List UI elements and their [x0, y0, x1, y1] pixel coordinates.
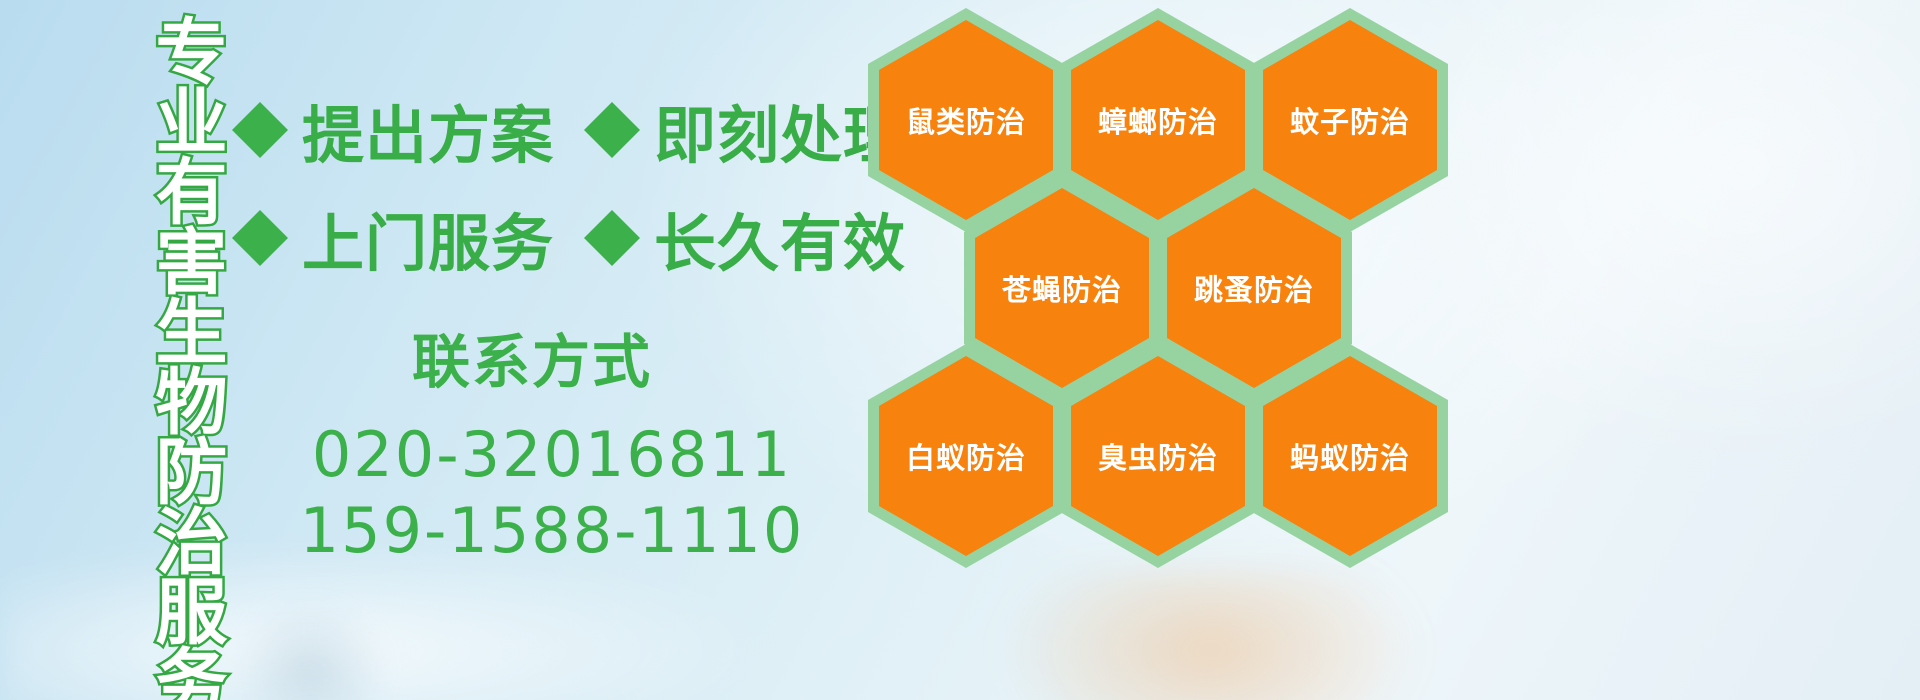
diamond-icon	[584, 74, 640, 130]
slogan-item: 长久有效	[584, 193, 906, 283]
hex-label: 苍蝇防治	[1002, 267, 1122, 309]
slogan-item: 上门服务	[232, 193, 554, 283]
slogan-row: 上门服务 长久有效	[232, 184, 872, 292]
slogan-row: 提出方案 即刻处理	[232, 76, 872, 184]
diamond-icon	[232, 182, 288, 238]
hex-label: 臭虫防治	[1098, 435, 1218, 477]
slogan-label: 提出方案	[302, 85, 554, 175]
diamond-icon	[232, 74, 288, 130]
hex-label: 蟑螂防治	[1098, 99, 1218, 141]
phone-number-landline[interactable]: 020-32016811	[232, 417, 872, 493]
slogan-item: 提出方案	[232, 85, 554, 175]
hex-label: 白蚁防治	[906, 435, 1026, 477]
contact-block: 联系方式 020-32016811 159-1588-1110	[232, 315, 872, 568]
slogan-item: 即刻处理	[584, 85, 906, 175]
slogan-list: 提出方案 即刻处理 上门服务 长久有效	[232, 76, 872, 292]
hex-label: 鼠类防治	[906, 99, 1026, 141]
hex-label: 蚂蚁防治	[1290, 435, 1410, 477]
hex-cell-bedbug[interactable]: 臭虫防治	[1060, 344, 1256, 568]
hex-label: 蚊子防治	[1290, 99, 1410, 141]
background-glow-orange	[1000, 570, 1420, 700]
phone-number-mobile[interactable]: 159-1588-1110	[232, 493, 872, 569]
promo-banner: 专业有害生物防治服务 提出方案 即刻处理 上门服务 长久有效	[0, 0, 1920, 700]
hex-cell-termite[interactable]: 白蚁防治	[868, 344, 1064, 568]
hex-label: 跳蚤防治	[1194, 267, 1314, 309]
service-honeycomb: 鼠类防治 蟑螂防治 蚊子防治 苍蝇防治 跳蚤防治	[862, 0, 1462, 560]
diamond-icon	[584, 182, 640, 238]
hex-cell-ant[interactable]: 蚂蚁防治	[1252, 344, 1448, 568]
vertical-headline: 专业有害生物防治服务	[108, 14, 218, 559]
contact-title: 联系方式	[232, 315, 872, 399]
background-blur-shape	[230, 600, 390, 700]
slogan-label: 上门服务	[302, 193, 554, 283]
